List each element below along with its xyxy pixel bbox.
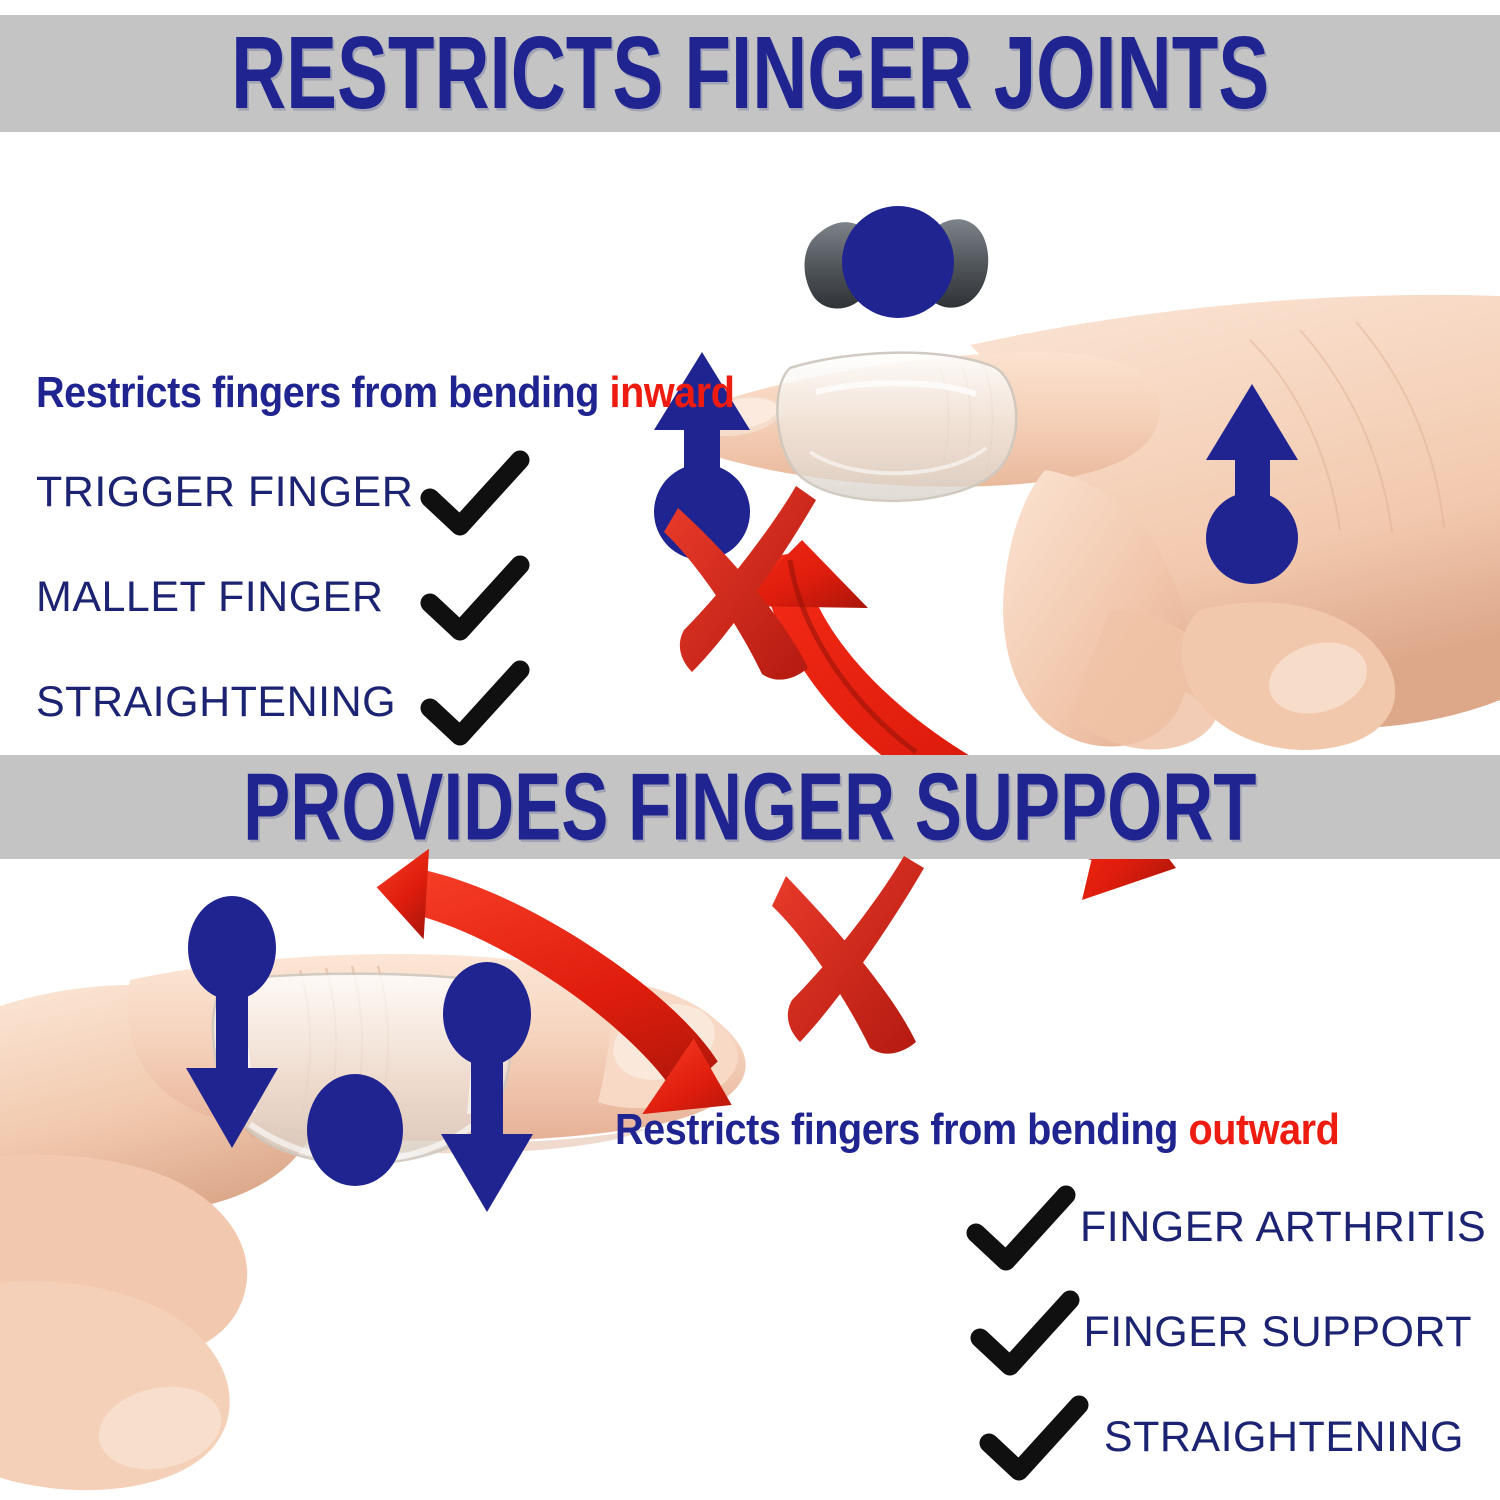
headline-top-accent: inward: [610, 368, 735, 417]
blue-dot-icon: [307, 1074, 403, 1186]
headline-bottom-main: Restricts fingers from bending: [615, 1105, 1189, 1154]
blue-dot-icon: [842, 206, 954, 318]
checklist-inward: TRIGGER FINGER MALLET FINGER STRAIGHTENI…: [36, 440, 556, 755]
headline-top-main: Restricts fingers from bending: [36, 368, 610, 417]
illustration-restrict-outward: [0, 862, 820, 1500]
headline-restrict-outward: Restricts fingers from bending outward: [615, 1105, 1339, 1155]
checklist-outward: FINGER ARTHRITIS FINGER SUPPORT STRAIGHT…: [975, 1175, 1480, 1490]
list-item: STRAIGHTENING: [975, 1385, 1480, 1490]
banner-bottom-title: PROVIDES FINGER SUPPORT: [243, 752, 1256, 862]
illustration-restrict-inward: [640, 140, 1500, 750]
clear-finger-splint: [777, 353, 1016, 501]
list-item: FINGER ARTHRITIS: [975, 1175, 1480, 1280]
banner-top-title: RESTRICTS FINGER JOINTS: [231, 14, 1269, 132]
banner-restricts-finger-joints: RESTRICTS FINGER JOINTS: [0, 15, 1500, 132]
checklist-item-label: STRAIGHTENING: [36, 678, 416, 727]
red-x-icon: [772, 856, 924, 1054]
banner-provides-finger-support: PROVIDES FINGER SUPPORT: [0, 755, 1500, 859]
list-item: TRIGGER FINGER: [36, 440, 556, 545]
checklist-item-label: STRAIGHTENING: [1093, 1413, 1464, 1462]
check-icon: [416, 450, 534, 536]
headline-restrict-inward: Restricts fingers from bending inward: [36, 368, 734, 418]
checklist-item-label: FINGER ARTHRITIS: [1080, 1203, 1480, 1252]
hand-bending-outward-illustration: [0, 862, 820, 1500]
list-item: STRAIGHTENING: [36, 650, 556, 755]
check-icon: [966, 1290, 1084, 1376]
check-icon: [975, 1395, 1093, 1481]
infographic-page: RESTRICTS FINGER JOINTS: [0, 0, 1500, 1500]
checklist-item-label: FINGER SUPPORT: [1084, 1308, 1472, 1357]
checklist-item-label: MALLET FINGER: [36, 573, 416, 622]
check-icon: [416, 555, 534, 641]
list-item: FINGER SUPPORT: [975, 1280, 1480, 1385]
headline-bottom-accent: outward: [1189, 1105, 1340, 1154]
check-icon: [416, 660, 534, 746]
check-icon: [962, 1185, 1080, 1271]
checklist-item-label: TRIGGER FINGER: [36, 468, 416, 517]
hand-bending-inward-illustration: [640, 140, 1500, 750]
list-item: MALLET FINGER: [36, 545, 556, 650]
